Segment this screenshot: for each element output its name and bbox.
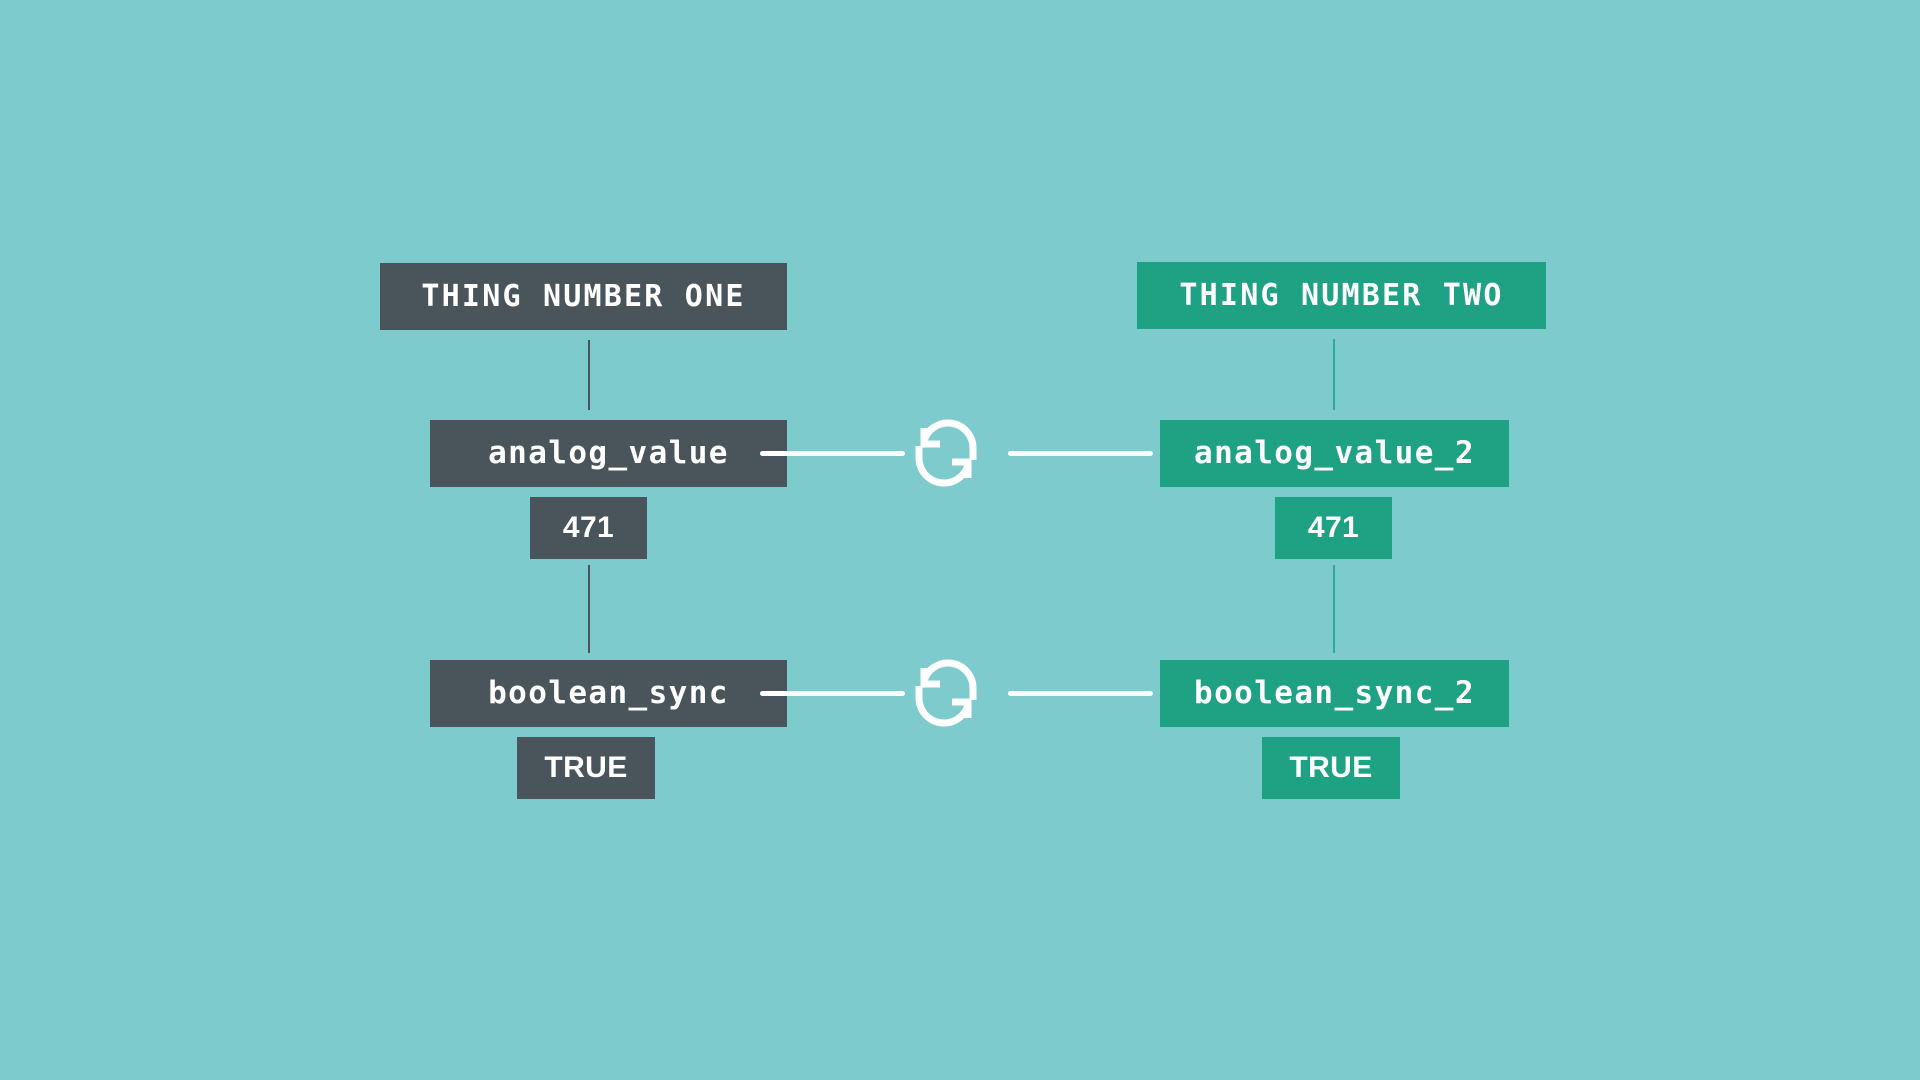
sync-link-analog-right-segment xyxy=(1008,451,1153,456)
connector-header-to-analog-value-2 xyxy=(1333,339,1335,410)
value-badge-boolean-sync-text: TRUE xyxy=(544,753,627,783)
property-label-analog-value: analog_value xyxy=(488,438,729,469)
value-badge-analog-value-text: 471 xyxy=(563,513,614,543)
value-badge-boolean-sync-2-text: TRUE xyxy=(1289,753,1372,783)
property-box-analog-value-2[interactable]: analog_value_2 xyxy=(1160,420,1509,487)
property-label-boolean-sync-2: boolean_sync_2 xyxy=(1194,678,1475,709)
property-label-analog-value-2: analog_value_2 xyxy=(1194,438,1475,469)
property-box-boolean-sync-2[interactable]: boolean_sync_2 xyxy=(1160,660,1509,727)
sync-link-boolean-right-segment xyxy=(1008,691,1153,696)
value-badge-boolean-sync: TRUE xyxy=(517,737,655,799)
property-box-boolean-sync[interactable]: boolean_sync xyxy=(430,660,787,727)
property-label-boolean-sync: boolean_sync xyxy=(488,678,729,709)
connector-header-to-analog-value xyxy=(588,340,590,410)
sync-link-boolean-left-segment xyxy=(760,691,905,696)
header-thing-one[interactable]: THING NUMBER ONE xyxy=(380,263,787,330)
sync-icon[interactable] xyxy=(908,410,984,496)
sync-icon[interactable] xyxy=(908,650,984,736)
header-thing-one-label: THING NUMBER ONE xyxy=(421,282,745,312)
header-thing-two[interactable]: THING NUMBER TWO xyxy=(1137,262,1546,329)
value-badge-boolean-sync-2: TRUE xyxy=(1262,737,1400,799)
connector-analog-value-2-to-boolean-sync-2 xyxy=(1333,565,1335,653)
sync-link-analog-left-segment xyxy=(760,451,905,456)
value-badge-analog-value-2-text: 471 xyxy=(1308,513,1359,543)
value-badge-analog-value-2: 471 xyxy=(1275,497,1392,559)
header-thing-two-label: THING NUMBER TWO xyxy=(1179,281,1503,311)
property-box-analog-value[interactable]: analog_value xyxy=(430,420,787,487)
diagram-canvas: THING NUMBER ONE analog_value 471 boolea… xyxy=(0,0,1920,1080)
connector-analog-value-to-boolean-sync xyxy=(588,565,590,653)
value-badge-analog-value: 471 xyxy=(530,497,647,559)
